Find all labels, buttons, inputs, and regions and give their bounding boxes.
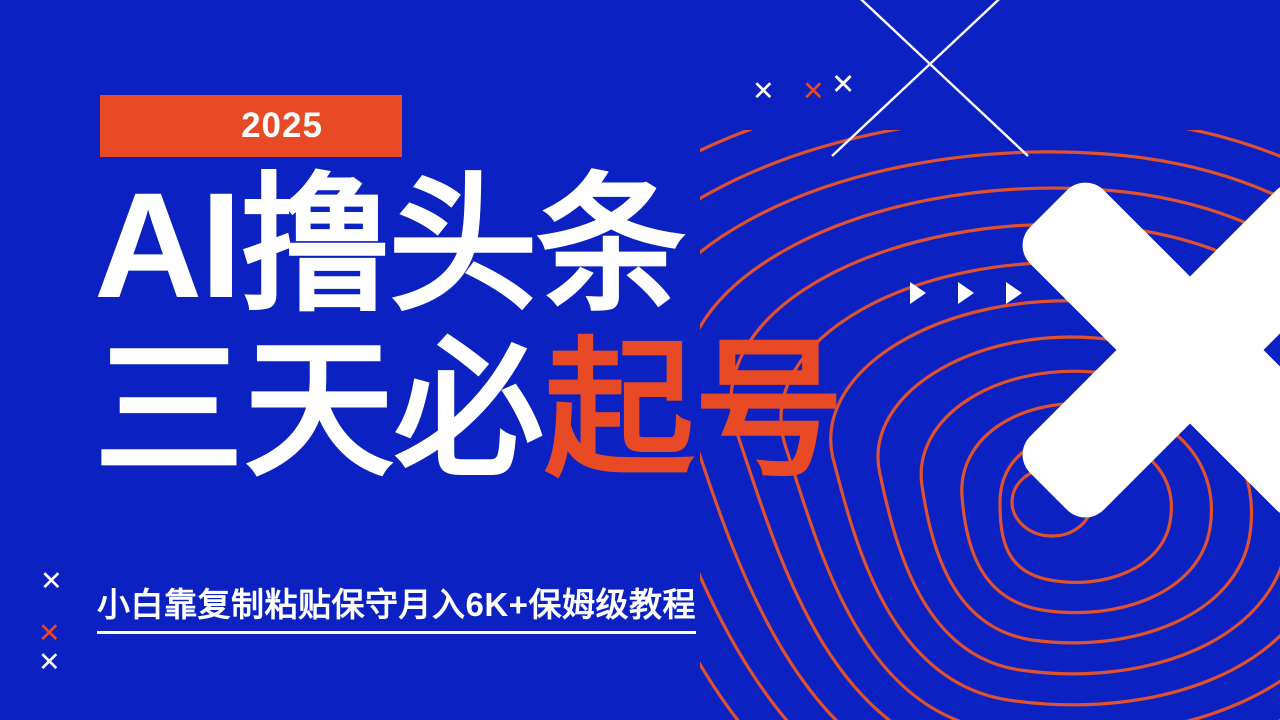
headline-line-2-white: 三天必 bbox=[94, 326, 544, 494]
x-mark-top-1: ✕ bbox=[752, 78, 775, 105]
triangle-arrow-icon bbox=[910, 282, 926, 304]
headline-block: AI撸头条 三天必起号 bbox=[94, 172, 844, 484]
x-mark-top-2: ✕ bbox=[802, 78, 825, 105]
x-mark-left-3: ✕ bbox=[38, 649, 61, 676]
big-x-bar-b bbox=[1012, 172, 1280, 528]
poster-canvas: ✕ ✕ ✕ ✕ ✕ ✕ 2025 AI撸头条 三天必起号 小白靠复制粘贴保守月入… bbox=[0, 0, 1280, 720]
big-x-bar-a bbox=[1012, 172, 1280, 528]
headline-line-2: 三天必起号 bbox=[94, 337, 844, 484]
thin-line-x-icon bbox=[828, 0, 1032, 160]
x-mark-left-1: ✕ bbox=[40, 568, 63, 595]
triangle-arrow-row bbox=[910, 282, 1022, 304]
headline-line-2-accent: 起号 bbox=[544, 326, 844, 494]
year-badge-label: 2025 bbox=[241, 106, 323, 146]
subtitle-text: 小白靠复制粘贴保守月入6K+保姆级教程 bbox=[97, 578, 696, 634]
headline-line-1: AI撸头条 bbox=[94, 172, 844, 319]
x-mark-top-3: ✕ bbox=[831, 71, 855, 100]
triangle-arrow-icon bbox=[1006, 282, 1022, 304]
triangle-arrow-icon bbox=[958, 282, 974, 304]
big-rounded-x-icon bbox=[1020, 160, 1280, 540]
x-mark-left-2: ✕ bbox=[38, 620, 61, 647]
year-badge: 2025 bbox=[100, 95, 402, 157]
